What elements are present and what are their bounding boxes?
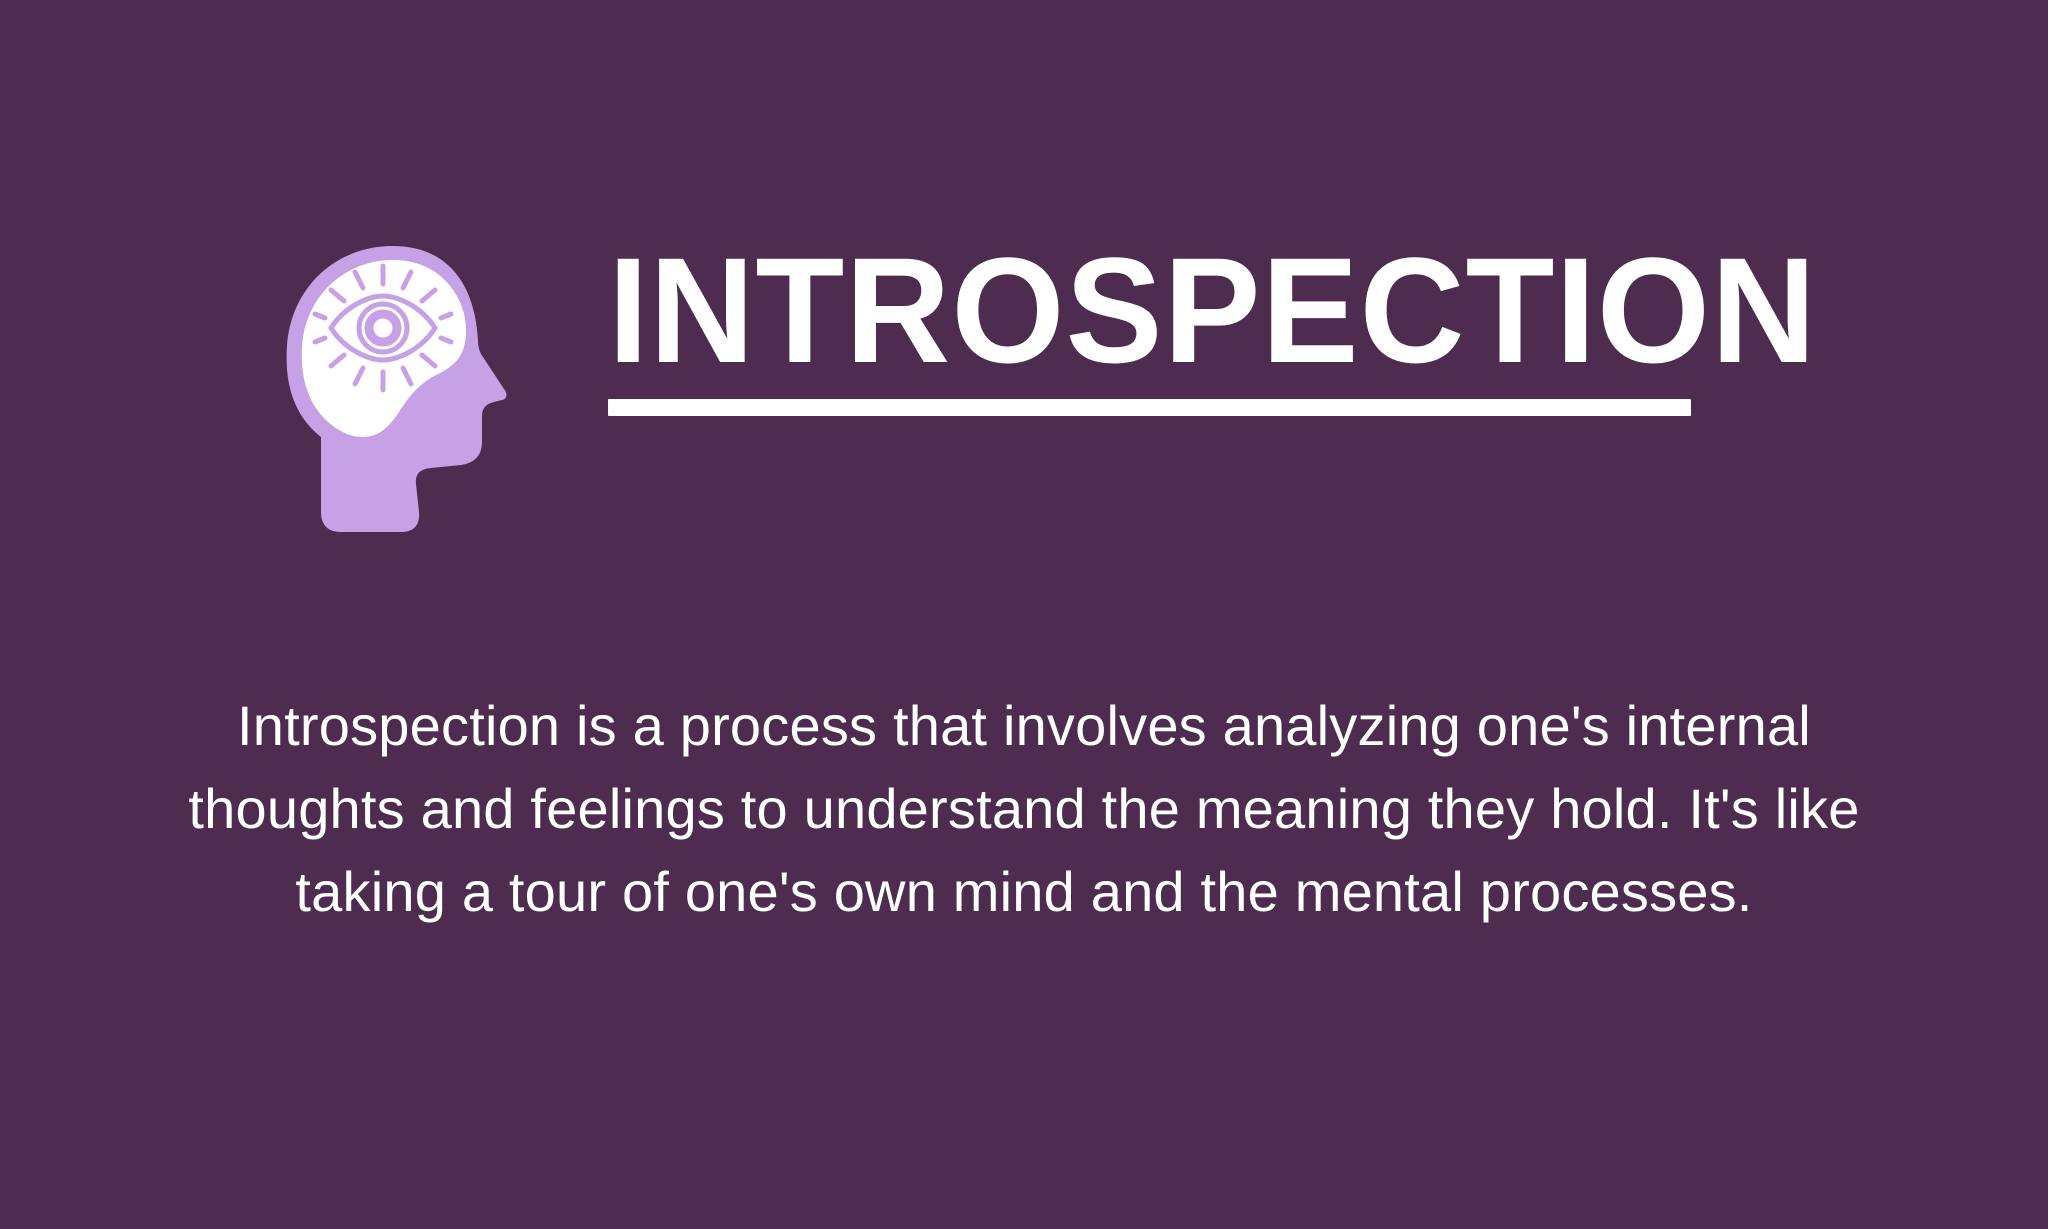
page-title: INTROSPECTION bbox=[608, 240, 1817, 381]
title-block: INTROSPECTION bbox=[608, 240, 1854, 416]
body-paragraph: Introspection is a process that involves… bbox=[174, 685, 1874, 934]
header-row: INTROSPECTION bbox=[0, 240, 2048, 534]
body-paragraph-wrapper: Introspection is a process that involves… bbox=[174, 685, 1874, 934]
introspection-slide: INTROSPECTION Introspection is a process… bbox=[0, 0, 2048, 1229]
head-with-eye-icon bbox=[283, 244, 508, 534]
title-underline bbox=[608, 399, 1691, 416]
